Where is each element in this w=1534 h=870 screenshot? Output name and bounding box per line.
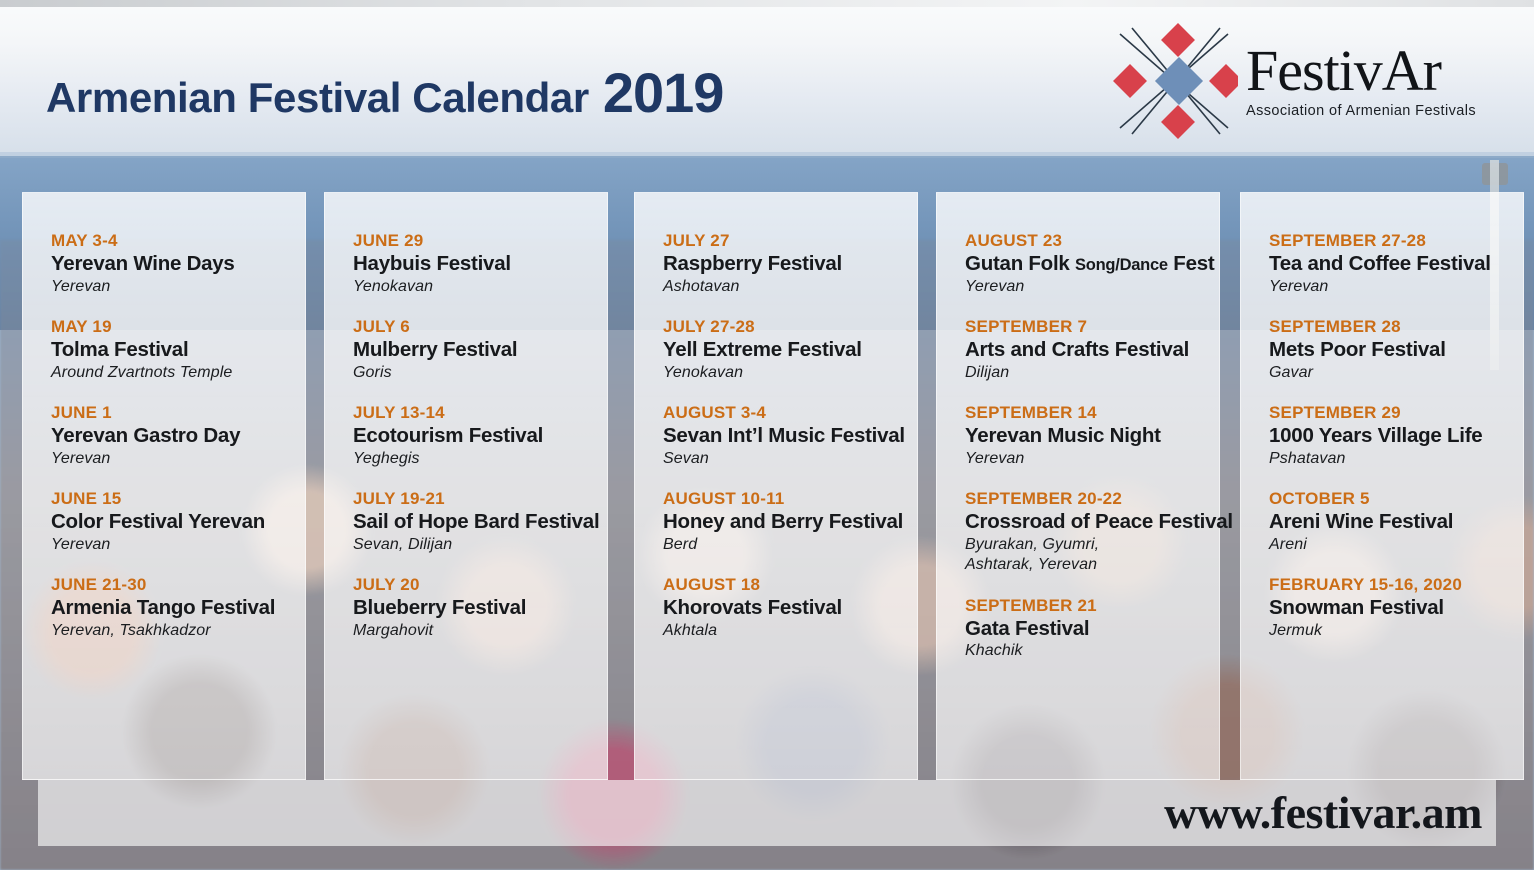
event-date: AUGUST 23	[965, 231, 1219, 251]
event-date: FEBRUARY 15-16, 2020	[1269, 575, 1523, 595]
event-date: JULY 20	[353, 575, 607, 595]
event-name: Crossroad of Peace Festival	[965, 510, 1219, 534]
event-item[interactable]: SEPTEMBER 20-22Crossroad of Peace Festiv…	[965, 489, 1219, 576]
event-location: Margahovit	[353, 621, 607, 641]
event-name: Sail of Hope Bard Festival	[353, 510, 607, 534]
event-date: MAY 19	[51, 317, 305, 337]
event-date: SEPTEMBER 20-22	[965, 489, 1219, 509]
event-item[interactable]: AUGUST 10-11Honey and Berry FestivalBerd	[663, 489, 917, 555]
event-date: JUNE 29	[353, 231, 607, 251]
event-item[interactable]: OCTOBER 5Areni Wine FestivalAreni	[1269, 489, 1523, 555]
event-name: Gata Festival	[965, 617, 1219, 641]
header-top-rule	[0, 0, 1534, 7]
event-item[interactable]: SEPTEMBER 21Gata FestivalKhachik	[965, 596, 1219, 662]
poster: Armenian Festival Calendar 2019 FestivAr	[0, 0, 1534, 870]
event-item[interactable]: JUNE 15Color Festival YerevanYerevan	[51, 489, 305, 555]
event-name: Color Festival Yerevan	[51, 510, 305, 534]
event-name: Arts and Crafts Festival	[965, 338, 1219, 362]
event-location: Areni	[1269, 535, 1523, 555]
event-date: OCTOBER 5	[1269, 489, 1523, 509]
event-name: 1000 Years Village Life	[1269, 424, 1523, 448]
event-item[interactable]: SEPTEMBER 14Yerevan Music NightYerevan	[965, 403, 1219, 469]
event-item[interactable]: AUGUST 18Khorovats FestivalAkhtala	[663, 575, 917, 641]
event-name: Honey and Berry Festival	[663, 510, 917, 534]
event-location: Jermuk	[1269, 621, 1523, 641]
title-year: 2019	[603, 60, 724, 125]
event-date: JULY 6	[353, 317, 607, 337]
event-name: Khorovats Festival	[663, 596, 917, 620]
brand-logo[interactable]: FestivAr Association of Armenian Festiva…	[1110, 22, 1510, 140]
event-location: Yerevan	[51, 449, 305, 469]
event-location: Sevan, Dilijan	[353, 535, 607, 555]
event-location: Byurakan, Gyumri, Ashtarak, Yerevan	[965, 535, 1219, 576]
event-location: Yenokavan	[353, 277, 607, 297]
event-location: Akhtala	[663, 621, 917, 641]
header-bottom-rule	[0, 152, 1534, 156]
event-item[interactable]: SEPTEMBER 291000 Years Village LifePshat…	[1269, 403, 1523, 469]
event-name: Yerevan Music Night	[965, 424, 1219, 448]
event-item[interactable]: MAY 19Tolma FestivalAround Zvartnots Tem…	[51, 317, 305, 383]
event-location: Sevan	[663, 449, 917, 469]
event-location: Yenokavan	[663, 363, 917, 383]
event-location: Ashotavan	[663, 277, 917, 297]
event-name-part: Gutan Folk	[965, 252, 1075, 275]
event-name: Mulberry Festival	[353, 338, 607, 362]
event-item[interactable]: MAY 3-4Yerevan Wine DaysYerevan	[51, 231, 305, 297]
event-name: Yell Extreme Festival	[663, 338, 917, 362]
event-location: Around Zvartnots Temple	[51, 363, 305, 383]
event-name: Raspberry Festival	[663, 252, 917, 276]
event-item[interactable]: JULY 6Mulberry FestivalGoris	[353, 317, 607, 383]
event-name: Ecotourism Festival	[353, 424, 607, 448]
event-item[interactable]: JUNE 21-30Armenia Tango FestivalYerevan,…	[51, 575, 305, 641]
event-name: Sevan Int’l Music Festival	[663, 424, 917, 448]
event-date: AUGUST 3-4	[663, 403, 917, 423]
event-item[interactable]: JUNE 1Yerevan Gastro DayYerevan	[51, 403, 305, 469]
event-location: Yerevan	[51, 277, 305, 297]
festivar-diamond-icon	[1110, 22, 1238, 140]
event-item[interactable]: SEPTEMBER 27-28Tea and Coffee FestivalYe…	[1269, 231, 1523, 297]
event-name: Tea and Coffee Festival	[1269, 252, 1523, 276]
event-item[interactable]: JULY 13-14Ecotourism FestivalYeghegis	[353, 403, 607, 469]
event-item[interactable]: SEPTEMBER 7Arts and Crafts FestivalDilij…	[965, 317, 1219, 383]
calendar-column-2: JUNE 29Haybuis FestivalYenokavanJULY 6Mu…	[324, 192, 608, 780]
event-item[interactable]: AUGUST 23Gutan Folk Song/Dance FestYerev…	[965, 231, 1219, 297]
page-title: Armenian Festival Calendar 2019	[46, 60, 723, 125]
brand-name: FestivAr	[1246, 43, 1476, 100]
event-name: Areni Wine Festival	[1269, 510, 1523, 534]
calendar-column-3: JULY 27Raspberry FestivalAshotavanJULY 2…	[634, 192, 918, 780]
event-location: Yerevan	[1269, 277, 1523, 297]
event-date: MAY 3-4	[51, 231, 305, 251]
event-name: Blueberry Festival	[353, 596, 607, 620]
calendar-column-1: MAY 3-4Yerevan Wine DaysYerevanMAY 19Tol…	[22, 192, 306, 780]
brand-text: FestivAr Association of Armenian Festiva…	[1246, 43, 1476, 119]
event-item[interactable]: JULY 19-21Sail of Hope Bard FestivalSeva…	[353, 489, 607, 555]
event-date: AUGUST 10-11	[663, 489, 917, 509]
event-item[interactable]: AUGUST 3-4Sevan Int’l Music FestivalSeva…	[663, 403, 917, 469]
event-date: JULY 13-14	[353, 403, 607, 423]
event-name: Armenia Tango Festival	[51, 596, 305, 620]
title-text: Armenian Festival Calendar	[46, 74, 589, 122]
event-item[interactable]: FEBRUARY 15-16, 2020Snowman FestivalJerm…	[1269, 575, 1523, 641]
event-name: Snowman Festival	[1269, 596, 1523, 620]
event-name: Haybuis Festival	[353, 252, 607, 276]
event-name: Tolma Festival	[51, 338, 305, 362]
event-item[interactable]: SEPTEMBER 28Mets Poor FestivalGavar	[1269, 317, 1523, 383]
event-name-subpart: Song/Dance	[1075, 256, 1168, 274]
event-location: Pshatavan	[1269, 449, 1523, 469]
event-name-tail: Fest	[1168, 252, 1215, 275]
event-date: SEPTEMBER 29	[1269, 403, 1523, 423]
event-date: SEPTEMBER 14	[965, 403, 1219, 423]
event-name: Yerevan Wine Days	[51, 252, 305, 276]
event-date: JUNE 21-30	[51, 575, 305, 595]
event-location: Yerevan	[965, 449, 1219, 469]
event-location: Khachik	[965, 641, 1219, 661]
event-name: Mets Poor Festival	[1269, 338, 1523, 362]
event-date: SEPTEMBER 27-28	[1269, 231, 1523, 251]
event-item[interactable]: JUNE 29Haybuis FestivalYenokavan	[353, 231, 607, 297]
event-location: Yeghegis	[353, 449, 607, 469]
event-location: Gavar	[1269, 363, 1523, 383]
event-date: JUNE 15	[51, 489, 305, 509]
event-location: Yerevan, Tsakhkadzor	[51, 621, 305, 641]
event-location: Dilijan	[965, 363, 1219, 383]
event-name: Yerevan Gastro Day	[51, 424, 305, 448]
event-item[interactable]: JULY 27-28Yell Extreme FestivalYenokavan	[663, 317, 917, 383]
calendar-column-5: SEPTEMBER 27-28Tea and Coffee FestivalYe…	[1240, 192, 1524, 780]
brand-tagline: Association of Armenian Festivals	[1246, 103, 1476, 119]
event-name: Gutan Folk Song/Dance Fest	[965, 252, 1219, 276]
event-date: JULY 19-21	[353, 489, 607, 509]
event-item[interactable]: JULY 27Raspberry FestivalAshotavan	[663, 231, 917, 297]
event-date: JULY 27	[663, 231, 917, 251]
event-date: JUNE 1	[51, 403, 305, 423]
event-location: Yerevan	[965, 277, 1219, 297]
calendar-column-4: AUGUST 23Gutan Folk Song/Dance FestYerev…	[936, 192, 1220, 780]
event-location: Berd	[663, 535, 917, 555]
event-date: JULY 27-28	[663, 317, 917, 337]
event-date: SEPTEMBER 21	[965, 596, 1219, 616]
event-item[interactable]: JULY 20Blueberry FestivalMargahovit	[353, 575, 607, 641]
event-location: Yerevan	[51, 535, 305, 555]
website-url[interactable]: www.festivar.am	[1164, 786, 1482, 839]
event-location: Goris	[353, 363, 607, 383]
event-date: SEPTEMBER 28	[1269, 317, 1523, 337]
event-date: SEPTEMBER 7	[965, 317, 1219, 337]
event-date: AUGUST 18	[663, 575, 917, 595]
